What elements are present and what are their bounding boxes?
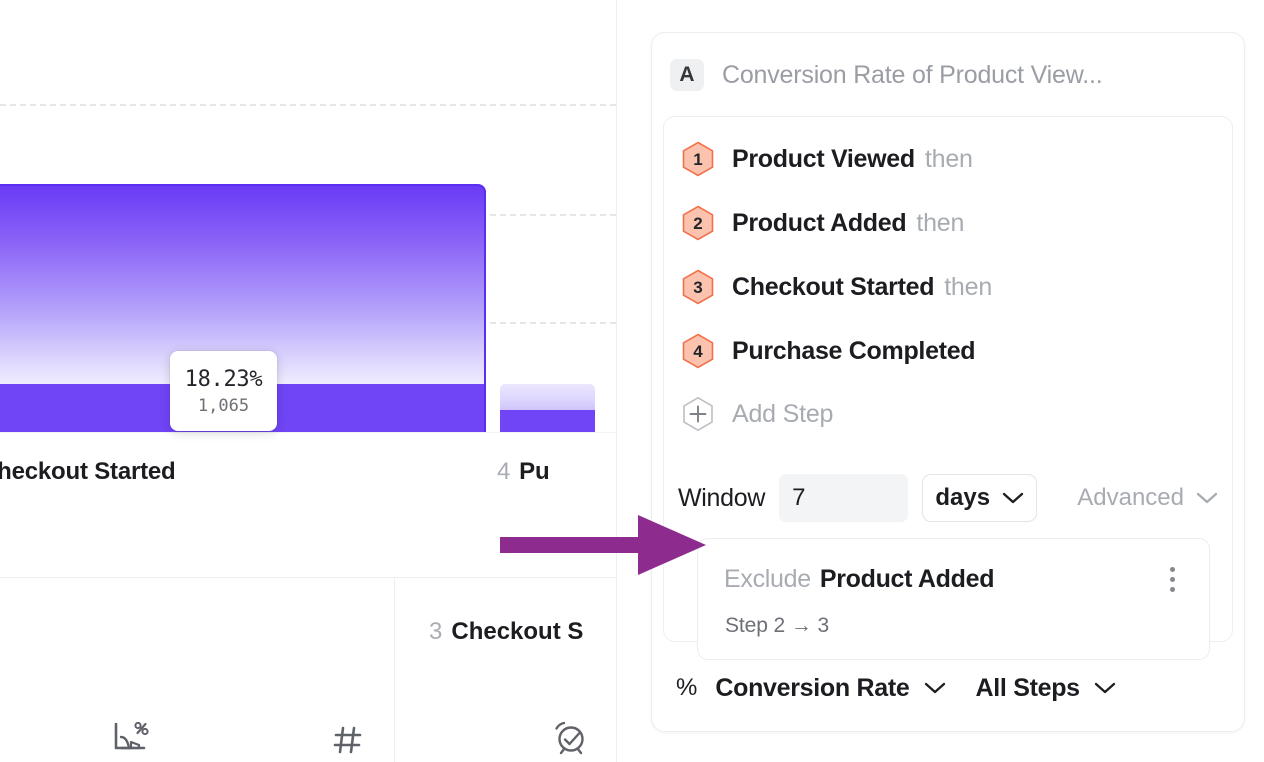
chart-baseline: [0, 432, 616, 433]
dot: [1170, 587, 1175, 592]
step-connector: then: [916, 209, 964, 238]
plus-hexagon-icon: [682, 396, 714, 432]
step-event-name: Purchase Completed: [732, 337, 975, 366]
exclude-step-card[interactable]: ExcludeProduct Added Step 2 → 3: [697, 538, 1210, 660]
step-number-hexagon-icon: 3: [682, 269, 714, 305]
step-number-hexagon-icon: 4: [682, 333, 714, 369]
metric-card-title-text: d: [0, 618, 1, 645]
step-event-name: Product Viewed: [732, 145, 915, 174]
count-icon[interactable]: [330, 722, 366, 762]
panel-header: A Conversion Rate of Product View...: [652, 33, 1244, 117]
funnel-step-1[interactable]: 1 Product Viewed then: [682, 127, 1214, 191]
x-axis-label-index: 4: [497, 458, 510, 485]
step-number-hexagon-icon: 2: [682, 205, 714, 241]
window-unit-label: days: [935, 484, 990, 512]
chevron-down-icon: [1094, 681, 1116, 695]
funnel-step-4[interactable]: 4 Purchase Completed: [682, 319, 1214, 383]
window-unit-select[interactable]: days: [922, 474, 1037, 522]
funnel-steps-card: 1 Product Viewed then 2 Product Added th…: [663, 116, 1233, 642]
gridline: [0, 104, 616, 106]
funnel-steps-list: 1 Product Viewed then 2 Product Added th…: [682, 127, 1214, 445]
metric-type-select[interactable]: Conversion Rate: [715, 674, 945, 703]
step-number: 1: [693, 151, 702, 168]
funnel-chart-panel: 18.23% 1,065 Checkout Started 4Pu d 3Che…: [0, 0, 617, 762]
tooltip-percent: 18.23%: [185, 367, 263, 392]
exclude-title: ExcludeProduct Added: [724, 565, 994, 594]
metric-cards-row: d 3Checkout S: [0, 578, 616, 762]
metric-card-title: d: [0, 618, 1, 646]
funnel-step-2[interactable]: 2 Product Added then: [682, 191, 1214, 255]
x-axis-label-text: Pu: [519, 458, 549, 485]
series-letter-badge: A: [670, 59, 704, 91]
conversion-window-row: Window 7 days Advanced: [678, 474, 1218, 522]
exclude-event-name: Product Added: [820, 565, 994, 593]
step-number: 3: [693, 279, 702, 296]
chevron-down-icon: [924, 681, 946, 695]
advanced-options-toggle[interactable]: Advanced: [1077, 484, 1218, 512]
step-event-name: Product Added: [732, 209, 906, 238]
time-to-convert-icon[interactable]: [550, 718, 594, 762]
tooltip-count: 1,065: [198, 396, 249, 416]
add-step-button[interactable]: Add Step: [682, 383, 1214, 445]
step-event-name: Checkout Started: [732, 273, 934, 302]
chevron-down-icon: [1002, 491, 1024, 505]
x-axis-label-purchase-completed: 4Pu: [497, 458, 549, 486]
panel-footer: % Conversion Rate All Steps: [652, 645, 1244, 731]
step-number-hexagon-icon: 1: [682, 141, 714, 177]
chevron-down-icon: [1196, 491, 1218, 505]
x-axis-label-text: Checkout Started: [0, 458, 176, 485]
exclude-overflow-menu-icon[interactable]: [1159, 562, 1185, 596]
step-number: 2: [693, 215, 702, 232]
chart-tooltip: 18.23% 1,065: [170, 351, 277, 431]
percent-icon: %: [676, 674, 697, 702]
window-label: Window: [678, 484, 765, 513]
metric-type-label: Conversion Rate: [715, 674, 909, 703]
step-connector: then: [944, 273, 992, 302]
exclude-step-range: Step 2 → 3: [725, 614, 829, 638]
funnel-title[interactable]: Conversion Rate of Product View...: [722, 61, 1102, 90]
advanced-label: Advanced: [1077, 484, 1184, 512]
conversion-rate-icon[interactable]: [108, 718, 152, 762]
app-root: 18.23% 1,065 Checkout Started 4Pu d 3Che…: [0, 0, 1264, 762]
bar-upper-segment: [500, 384, 595, 410]
dot: [1170, 577, 1175, 582]
steps-scope-label: All Steps: [976, 674, 1080, 703]
funnel-bar-purchase-completed[interactable]: [500, 384, 595, 432]
exclude-prefix: Exclude: [724, 565, 811, 593]
metric-card-title-text: Checkout S: [451, 618, 583, 645]
bar-lower-segment: [500, 410, 595, 432]
x-axis-label-checkout-started: Checkout Started: [0, 458, 176, 486]
dot: [1170, 567, 1175, 572]
window-value-input[interactable]: 7: [779, 474, 908, 522]
exclude-card-header: ExcludeProduct Added: [724, 562, 1185, 596]
metric-card-title-index: 3: [429, 618, 442, 645]
funnel-step-3[interactable]: 3 Checkout Started then: [682, 255, 1214, 319]
step-connector: then: [925, 145, 973, 174]
funnel-config-panel: A Conversion Rate of Product View... 1 P…: [651, 32, 1245, 732]
step-number: 4: [693, 343, 702, 360]
metric-card-title: 3Checkout S: [429, 618, 583, 646]
add-step-label: Add Step: [732, 400, 833, 429]
steps-scope-select[interactable]: All Steps: [976, 674, 1116, 703]
